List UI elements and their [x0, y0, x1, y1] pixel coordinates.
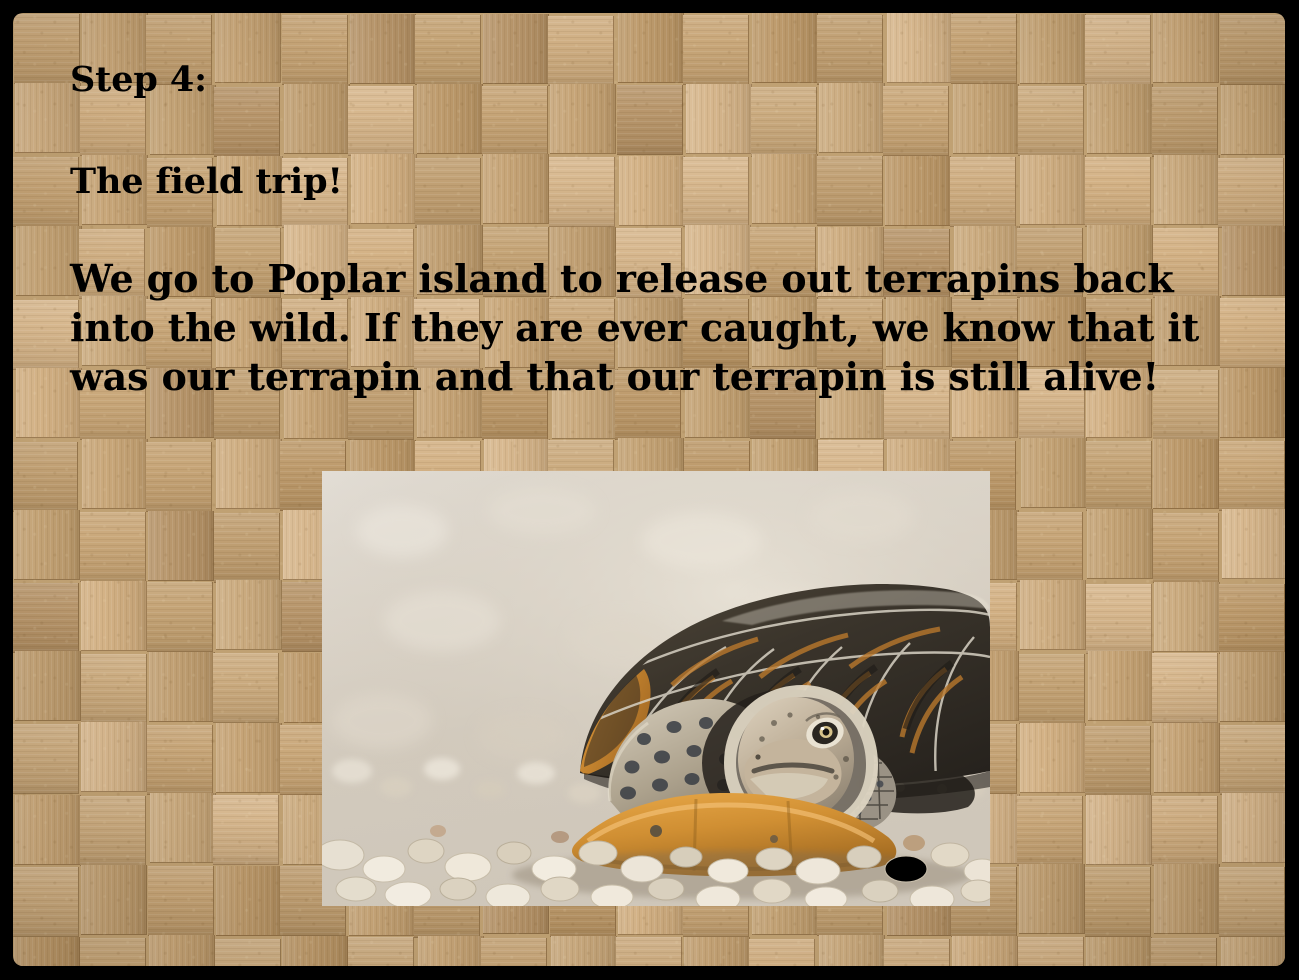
weave-tile [149, 935, 215, 966]
weave-tile-shading [216, 580, 281, 649]
weave-tile-shading [82, 439, 147, 508]
weave-tile-shading [1220, 15, 1285, 84]
weave-tile-shading [213, 653, 278, 722]
weave-tile [616, 937, 682, 966]
weave-tile [1220, 298, 1285, 368]
weave-tile [1219, 867, 1285, 937]
weave-tile-shading [1020, 580, 1085, 649]
weave-tile [148, 511, 214, 581]
weave-tile [1152, 653, 1218, 723]
weave-tile-shading [551, 936, 616, 966]
weave-tile-shading [418, 936, 483, 966]
weave-tile [1219, 441, 1285, 511]
weave-tile [1018, 937, 1084, 966]
weave-tile-shading [81, 581, 146, 650]
weave-tile [81, 581, 147, 651]
weave-tile-shading [1218, 158, 1283, 227]
weave-tile [1085, 867, 1151, 937]
weave-tile-shading [148, 511, 213, 580]
weave-tile-shading [13, 724, 78, 793]
weave-tile-shading [149, 935, 214, 966]
weave-tile [147, 725, 213, 795]
weave-tile [1220, 725, 1285, 795]
weave-tile-shading [1019, 864, 1084, 933]
weave-tile [148, 866, 214, 936]
weave-tile [1222, 793, 1285, 863]
weave-tile-shading [14, 937, 79, 966]
weave-tile-shading [80, 938, 145, 966]
slide-body-paragraph: We go to Poplar island to release out te… [70, 254, 1200, 401]
weave-tile-shading [1222, 226, 1285, 295]
weave-tile-shading [147, 725, 212, 794]
weave-tile [1017, 796, 1083, 866]
weave-tile-shading [1222, 793, 1285, 862]
slide-frame: Step 4: The field trip! We go to Poplar … [0, 0, 1299, 980]
weave-tile-shading [13, 867, 78, 936]
weave-tile-shading [1219, 867, 1284, 936]
weave-tile [1086, 441, 1152, 511]
weave-tile [216, 439, 282, 509]
weave-tile [481, 938, 547, 966]
weave-tile-shading [684, 937, 749, 966]
weave-tile [1088, 651, 1154, 721]
weave-tile-shading [749, 939, 814, 966]
weave-tile-shading [216, 723, 281, 792]
slide-title: The field trip! [70, 160, 1200, 204]
weave-tile [215, 939, 281, 966]
weave-tile [952, 936, 1018, 966]
weave-tile [80, 796, 146, 866]
weave-tile-shading [1017, 796, 1082, 865]
weave-tile [282, 936, 348, 966]
weave-tile [146, 442, 212, 512]
weave-tile-shading [1020, 723, 1085, 792]
weave-tile-shading [149, 652, 214, 721]
weave-tile-shading [13, 583, 78, 652]
weave-tile [1154, 582, 1220, 652]
weave-tile [81, 654, 147, 724]
weave-tile [1153, 513, 1219, 583]
weave-tile [216, 580, 282, 650]
weave-tile [14, 510, 80, 580]
weave-tile [82, 439, 148, 509]
weave-tile [80, 512, 146, 582]
weave-tile [1154, 723, 1220, 793]
weave-tile-shading [216, 439, 281, 508]
weave-tile-shading [952, 936, 1017, 966]
body-line: We go to Poplar island to release out te… [70, 254, 1200, 303]
weave-tile-shading [15, 651, 80, 720]
weave-tile-shading [1152, 796, 1217, 865]
weave-tile [418, 936, 484, 966]
weave-tile-shading [348, 937, 413, 966]
weave-tile [1221, 937, 1285, 966]
weave-tile-shading [1088, 651, 1153, 720]
weave-tile-shading [1219, 441, 1284, 510]
weave-tile-shading [1087, 509, 1152, 578]
weave-tile-shading [216, 866, 281, 935]
weave-tile [14, 937, 80, 966]
weave-tile-shading [13, 442, 77, 511]
weave-tile-shading [1151, 938, 1216, 966]
weave-tile-shading [148, 866, 213, 935]
weave-tile [1153, 439, 1219, 509]
weave-tile [348, 937, 414, 966]
weave-tile [214, 513, 280, 583]
terrapin-photo-illustration [322, 471, 990, 906]
weave-tile [1019, 864, 1085, 934]
weave-tile [15, 795, 81, 865]
weave-tile-shading [214, 513, 279, 582]
weave-tile [216, 866, 282, 936]
weave-tile [13, 442, 78, 512]
weave-tile-shading [1021, 438, 1086, 507]
weave-tile-shading [1086, 937, 1151, 966]
weave-tile [1086, 937, 1152, 966]
weave-tile [1220, 368, 1285, 438]
weave-tile [1086, 795, 1152, 865]
weave-tile-shading [13, 157, 78, 226]
body-line: into the wild. If they are ever caught, … [70, 303, 1200, 352]
weave-tile-shading [15, 795, 80, 864]
weave-tile [551, 936, 617, 966]
weave-tile-shading [616, 937, 681, 966]
weave-tile-shading [150, 793, 215, 862]
weave-tile [1152, 796, 1218, 866]
weave-tile-shading [1220, 652, 1285, 721]
weave-tile [1154, 864, 1220, 934]
step-label: Step 4: [70, 58, 1200, 102]
weave-tile [216, 723, 282, 793]
weave-tile [13, 724, 79, 794]
weave-tile-shading [81, 654, 146, 723]
weave-tile [1219, 584, 1285, 654]
weave-tile [684, 937, 750, 966]
body-line: was our terrapin and that our terrapin i… [70, 352, 1200, 401]
weave-tile-shading [1018, 937, 1083, 966]
weave-tile-shading [1220, 298, 1285, 367]
weave-tile [1221, 85, 1285, 155]
weave-tile-shading [819, 935, 884, 966]
weave-tile [80, 938, 146, 966]
weave-tile [749, 939, 815, 966]
weave-tile-shading [80, 796, 145, 865]
weave-tile-shading [1222, 509, 1285, 578]
weave-tile-shading [146, 442, 211, 511]
weave-tile-shading [147, 582, 212, 651]
weave-tile [1020, 580, 1086, 650]
weave-tile-shading [1086, 795, 1151, 864]
weave-tile [15, 651, 81, 721]
terrapin-photo [322, 471, 990, 906]
weave-tile-shading [213, 795, 278, 864]
weave-tile [81, 722, 147, 792]
weave-tile-shading [1019, 654, 1084, 723]
weave-tile-shading [481, 938, 546, 966]
weave-tile [1086, 584, 1152, 654]
weave-tile [1218, 158, 1284, 228]
weave-tile [884, 939, 950, 966]
weave-tile-shading [1220, 725, 1285, 794]
weave-tile [1021, 438, 1087, 508]
weave-tile [1020, 723, 1086, 793]
weave-tile-shading [14, 510, 79, 579]
weave-tile-shading [1086, 441, 1151, 510]
weave-tile [213, 653, 279, 723]
weave-tile [213, 795, 279, 865]
weave-tile [150, 793, 216, 863]
weave-tile-shading [1221, 937, 1285, 966]
weave-tile [1085, 726, 1151, 796]
weave-tile-shading [215, 939, 280, 966]
weave-tile-shading [884, 939, 949, 966]
slide-text-block: Step 4: The field trip! We go to Poplar … [70, 58, 1200, 401]
weave-tile-shading [1154, 864, 1219, 933]
weave-tile-shading [80, 512, 145, 581]
weave-tile-shading [1017, 512, 1082, 581]
weave-tile-shading [1153, 439, 1218, 508]
weave-tile-shading [1086, 584, 1151, 653]
weave-tile [149, 652, 215, 722]
weave-tile-shading [13, 300, 78, 369]
weave-tile-shading [1152, 653, 1217, 722]
weave-tile [81, 865, 147, 935]
weave-tile-shading [1219, 584, 1284, 653]
weave-tile-shading [1085, 867, 1150, 936]
weave-tile [1222, 226, 1285, 296]
weave-tile-shading [81, 865, 146, 934]
weave-tile-shading [1154, 582, 1219, 651]
weave-tile [1087, 509, 1153, 579]
weave-tile [13, 867, 79, 937]
weave-tile [1220, 15, 1285, 85]
weave-tile-shading [1153, 513, 1218, 582]
weave-tile [1017, 512, 1083, 582]
weave-tile-shading [1154, 723, 1219, 792]
weave-tile [1151, 938, 1217, 966]
weave-tile [13, 583, 79, 653]
weave-tile [13, 157, 79, 227]
weave-tile [147, 582, 213, 652]
weave-tile [1019, 654, 1085, 724]
weave-tile-shading [1220, 368, 1285, 437]
weave-tile-shading [14, 14, 79, 83]
weave-tile-shading [1221, 85, 1285, 154]
weave-tile [1220, 652, 1285, 722]
weave-tile [1222, 509, 1285, 579]
weave-tile-shading [1085, 726, 1150, 795]
weave-tile-shading [81, 722, 146, 791]
weave-tile-shading [282, 936, 347, 966]
weave-tile [819, 935, 885, 966]
